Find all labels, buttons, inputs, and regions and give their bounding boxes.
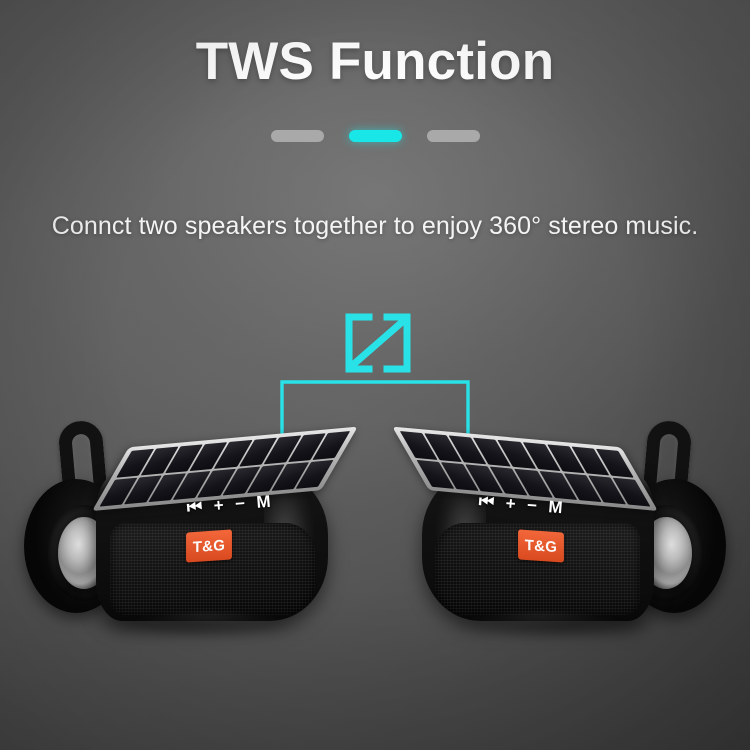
volume-up-button[interactable]: + xyxy=(505,494,517,512)
dash-indicator-group xyxy=(0,130,750,142)
speaker-reflection xyxy=(416,613,666,665)
right-speaker: ⏮ + − M T&G xyxy=(406,405,736,635)
mode-button[interactable]: M xyxy=(548,498,564,516)
speaker-reflection xyxy=(84,613,334,665)
left-speaker: ⏮ + − M T&G xyxy=(14,405,344,635)
brand-badge: T&G xyxy=(518,529,564,562)
nfc-icon xyxy=(343,311,413,375)
dash-indicator-2 xyxy=(349,130,402,142)
page-title: TWS Function xyxy=(0,31,750,92)
mode-button[interactable]: M xyxy=(256,492,272,510)
volume-up-button[interactable]: + xyxy=(213,496,225,514)
product-banner: TWS Function Connct two speakers togethe… xyxy=(0,0,750,750)
page-subtitle: Connct two speakers together to enjoy 36… xyxy=(0,212,750,241)
brand-badge: T&G xyxy=(186,529,232,562)
dash-indicator-1 xyxy=(271,130,324,142)
volume-down-button[interactable]: − xyxy=(234,494,246,512)
prev-track-button[interactable]: ⏮ xyxy=(186,498,203,516)
volume-down-button[interactable]: − xyxy=(526,496,538,514)
prev-track-button[interactable]: ⏮ xyxy=(478,492,495,510)
dash-indicator-3 xyxy=(427,130,480,142)
